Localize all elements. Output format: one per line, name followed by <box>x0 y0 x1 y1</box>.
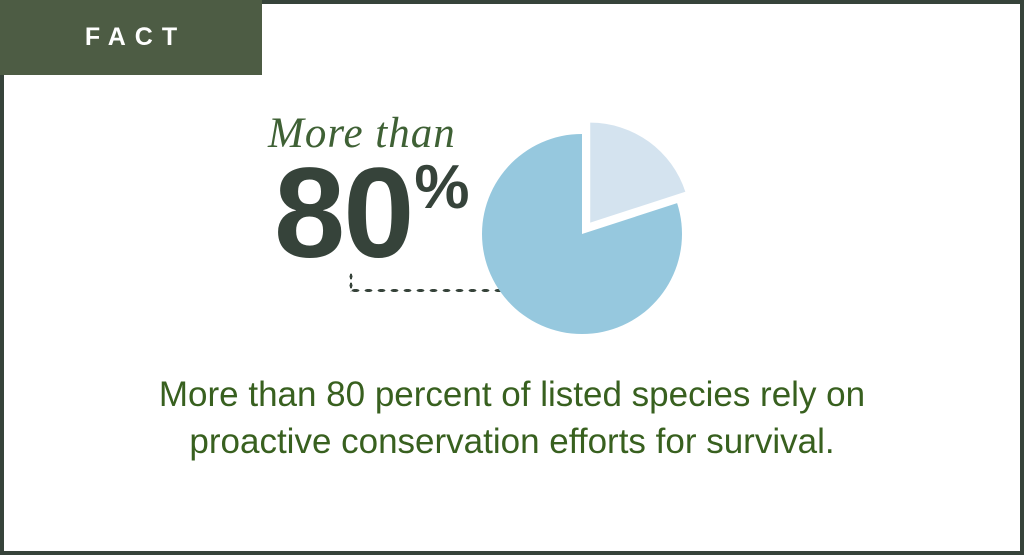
fact-banner: FACT <box>0 0 262 75</box>
fact-banner-label: FACT <box>76 25 186 50</box>
pie-chart <box>476 128 700 352</box>
caption-line-2: proactive conservation efforts for survi… <box>0 419 1024 466</box>
caption-line-1: More than 80 percent of listed species r… <box>0 372 1024 419</box>
fact-infographic: FACT More than 80 % More than 80 percent… <box>0 0 1024 555</box>
pie-chart-svg <box>476 128 700 352</box>
caption: More than 80 percent of listed species r… <box>0 372 1024 465</box>
stat-value: 80 <box>274 155 412 273</box>
stat-unit: % <box>414 157 469 219</box>
stat-value-group: 80 % <box>274 155 470 273</box>
